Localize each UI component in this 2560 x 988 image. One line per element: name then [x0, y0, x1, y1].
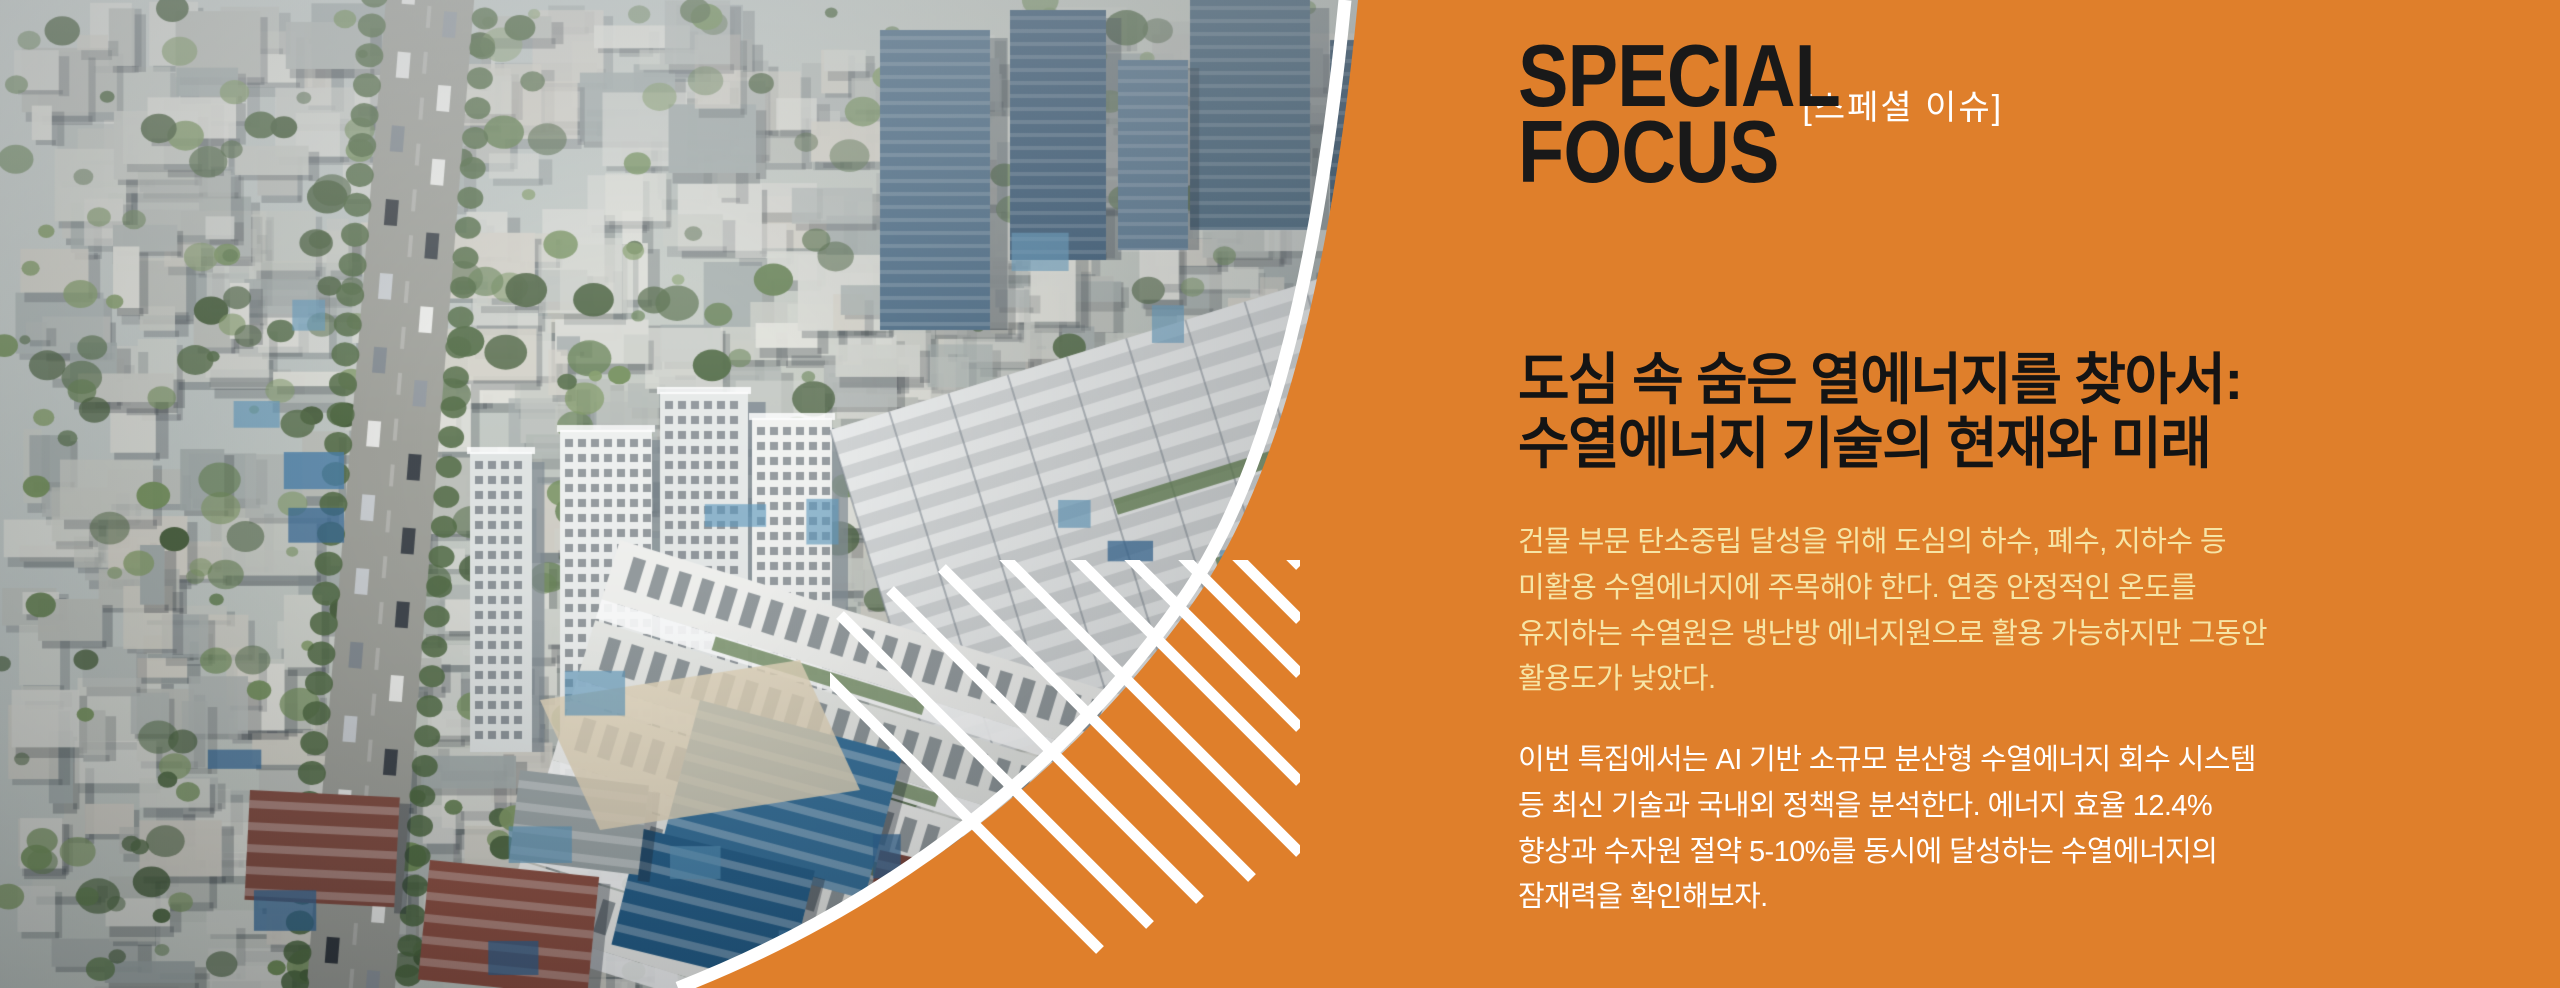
kicker-block: SPECIAL FOCUS [스페셜 이슈] — [1518, 38, 2528, 189]
kicker-special-focus: SPECIAL FOCUS — [1518, 38, 1840, 189]
body-paragraph: 이번 특집에서는 AI 기반 소규모 분산형 수열에너지 회수 시스템 등 최신… — [1518, 738, 2528, 921]
page-title: 도심 속 숨은 열에너지를 찾아서: 수열에너지 기술의 현재와 미래 — [1518, 348, 2528, 476]
kicker-row: SPECIAL FOCUS [스페셜 이슈] — [1518, 38, 2528, 189]
special-focus-banner: SPECIAL FOCUS [스페셜 이슈] 도심 속 숨은 열에너지를 찾아서… — [0, 0, 2560, 988]
lede-paragraph: 건물 부문 탄소중립 달성을 위해 도심의 하수, 폐수, 지하수 등 미활용 … — [1518, 520, 2528, 703]
editorial-content: SPECIAL FOCUS [스페셜 이슈] 도심 속 숨은 열에너지를 찾아서… — [1518, 0, 2528, 988]
